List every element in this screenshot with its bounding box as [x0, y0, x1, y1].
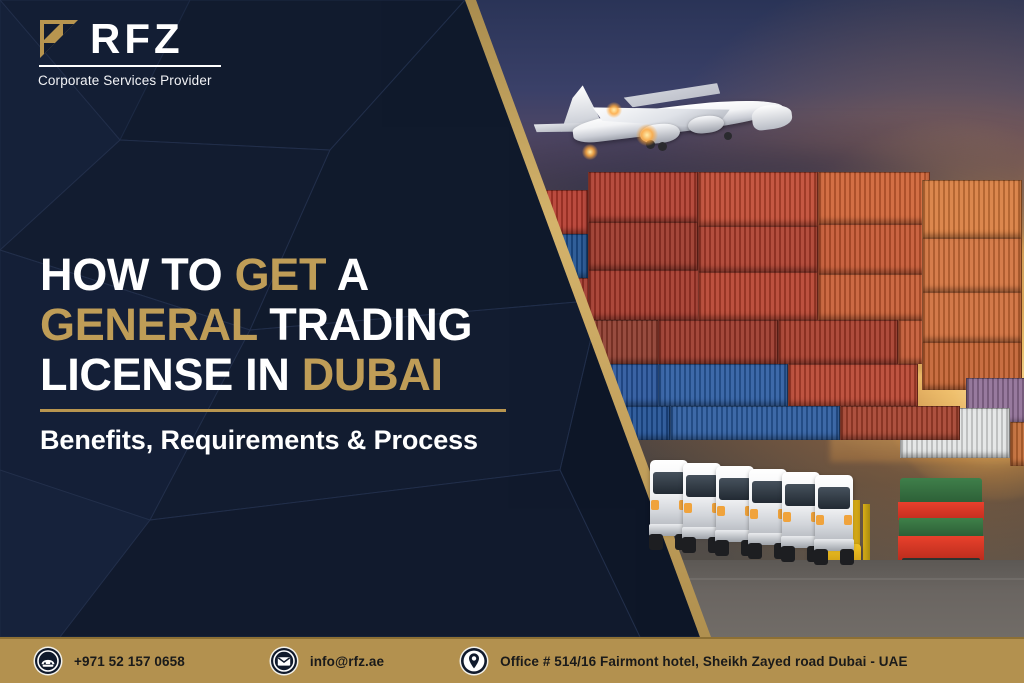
- headline-l2-gold: GENERAL: [40, 299, 257, 350]
- contact-email[interactable]: info@rfz.ae: [269, 638, 384, 683]
- contact-phone[interactable]: +971 52 157 0658: [33, 638, 185, 683]
- headline-block: HOW TO GET A GENERAL TRADING LICENSE IN …: [40, 250, 560, 456]
- contact-bar: +971 52 157 0658 info@rfz.ae Office # 51…: [0, 637, 1024, 683]
- location-pin-icon: [459, 646, 489, 676]
- brand-tagline: Corporate Services Provider: [38, 73, 278, 88]
- shipping-container: [698, 172, 818, 226]
- telephone-icon: [33, 646, 63, 676]
- shipping-container: [788, 364, 918, 406]
- shipping-container: [922, 238, 1022, 292]
- headline-divider: [40, 409, 506, 412]
- headline-l1-white-b: A: [326, 249, 369, 300]
- phone-text: +971 52 157 0658: [74, 654, 185, 669]
- headline-l3-white: LICENSE IN: [40, 349, 302, 400]
- brand-name: RFZ: [90, 18, 184, 60]
- shipping-container: [818, 224, 930, 274]
- headline-subtitle: Benefits, Requirements & Process: [40, 425, 560, 456]
- headline-line-1: HOW TO GET A: [40, 250, 560, 300]
- shipping-container: [670, 406, 840, 440]
- shipping-container: [698, 272, 818, 320]
- brand-logo[interactable]: RFZ Corporate Services Provider: [38, 18, 278, 88]
- shipping-container: [778, 320, 898, 364]
- shipping-container: [588, 270, 700, 320]
- rfz-flag-mark-icon: [38, 18, 80, 60]
- shipping-container: [1010, 422, 1024, 466]
- truck-row: [648, 452, 878, 572]
- logo-divider: [39, 65, 221, 67]
- shipping-container: [818, 274, 930, 320]
- headline-line-3: LICENSE IN DUBAI: [40, 350, 560, 400]
- shipping-container: [658, 364, 788, 406]
- shipping-container: [588, 172, 698, 222]
- contact-address[interactable]: Office # 514/16 Fairmont hotel, Sheikh Z…: [459, 638, 907, 683]
- shipping-container: [658, 320, 778, 364]
- headline-l3-gold: DUBAI: [302, 349, 443, 400]
- shipping-container: [698, 226, 818, 272]
- envelope-icon: [269, 646, 299, 676]
- headline-l2-white: TRADING: [257, 299, 472, 350]
- banner-root: RFZ Corporate Services Provider HOW TO G…: [0, 0, 1024, 683]
- shipping-container: [840, 406, 960, 440]
- address-text: Office # 514/16 Fairmont hotel, Sheikh Z…: [500, 654, 907, 669]
- headline-line-2: GENERAL TRADING: [40, 300, 560, 350]
- shipping-container: [818, 172, 930, 224]
- headline-l1-gold: GET: [235, 249, 327, 300]
- headline-l1-white-a: HOW TO: [40, 249, 235, 300]
- airplane-icon: [520, 62, 790, 182]
- shipping-container: [922, 180, 1022, 238]
- truck: [813, 467, 855, 571]
- shipping-container: [588, 222, 698, 270]
- shipping-container: [922, 292, 1022, 342]
- email-text: info@rfz.ae: [310, 654, 384, 669]
